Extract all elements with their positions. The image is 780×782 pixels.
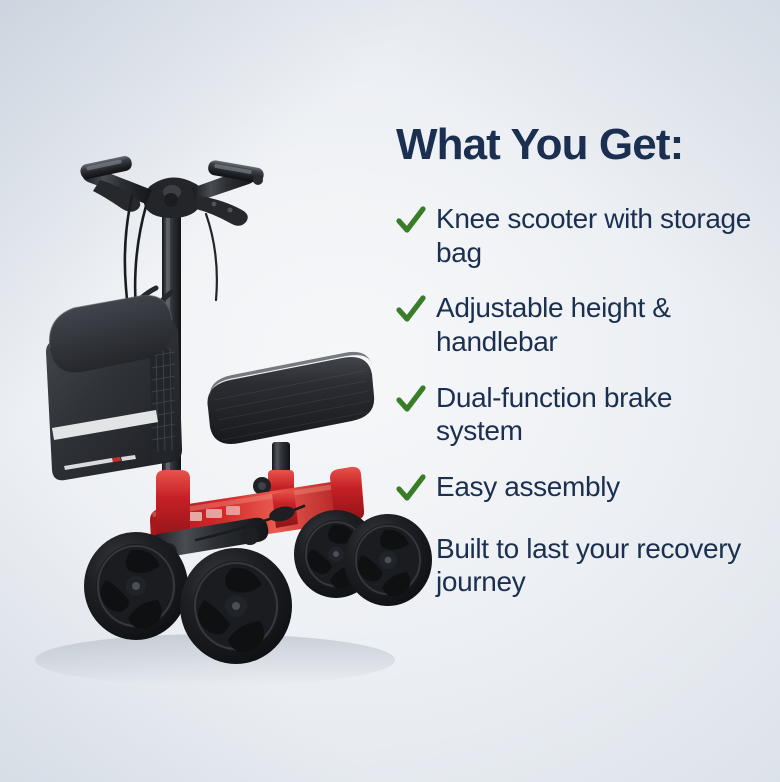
list-item: Dual-function brake system — [396, 381, 764, 448]
list-item: Easy assembly — [396, 470, 764, 506]
handlebar-assembly — [79, 155, 265, 226]
check-icon — [396, 383, 426, 417]
feature-copy-block: What You Get: Knee scooter with storage … — [396, 122, 764, 599]
storage-bag — [46, 288, 182, 480]
check-icon — [396, 472, 426, 506]
product-feature-graphic: What You Get: Knee scooter with storage … — [0, 0, 780, 782]
check-icon — [396, 293, 426, 327]
list-item: Adjustable height & handlebar — [396, 291, 764, 358]
list-item-label: Easy assembly — [436, 470, 620, 504]
list-item: Knee scooter with storage bag — [396, 202, 764, 269]
tagline: Built to last your recovery journey — [436, 532, 764, 599]
page-title: What You Get: — [396, 122, 764, 168]
knee-scooter-image — [0, 0, 440, 782]
list-item-label: Dual-function brake system — [436, 381, 764, 448]
list-item-label: Knee scooter with storage bag — [436, 202, 764, 269]
check-icon — [396, 204, 426, 238]
list-item-label: Adjustable height & handlebar — [436, 291, 764, 358]
